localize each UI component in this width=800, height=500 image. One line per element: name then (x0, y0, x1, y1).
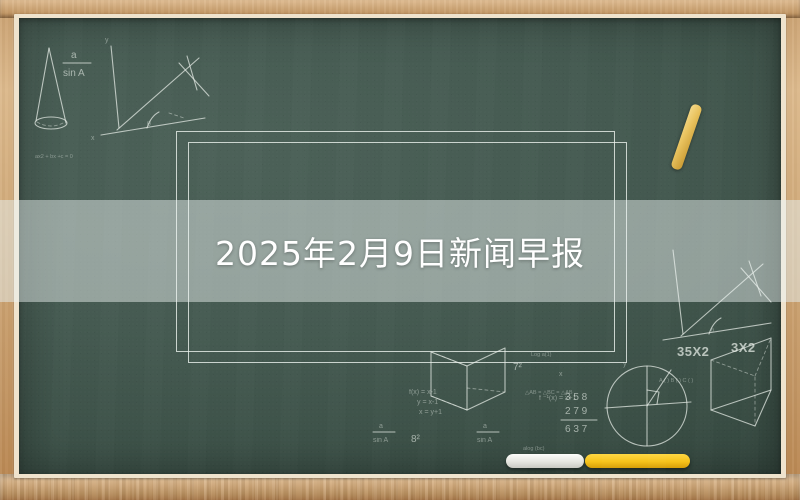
svg-text:f(x) = x-1: f(x) = x-1 (409, 389, 437, 396)
yellow-chalk-on-ledge (585, 454, 690, 468)
svg-text:3 5 8: 3 5 8 (565, 392, 588, 403)
title-banner: 2025年2月9日新闻早报 (0, 200, 800, 302)
white-chalk-on-ledge (506, 454, 584, 468)
vertical-addition: 3 5 8 2 7 9 6 3 7 x (559, 371, 597, 435)
svg-text:y = x-1: y = x-1 (417, 399, 438, 406)
alog-bc: alog (bc) (523, 446, 545, 452)
svg-text:y: y (623, 361, 627, 368)
label-35x2: 35X2 (677, 344, 709, 359)
svg-text:y: y (105, 37, 109, 44)
circle-angle-diagram: y (605, 361, 691, 446)
eight-squared: 8² (411, 434, 421, 445)
label-3x2: 3X2 (731, 340, 756, 355)
cube-wireframe-center (431, 348, 505, 410)
quadratic-equation: ax2 + bx +c = 0 (35, 154, 73, 160)
svg-text:2 7 9: 2 7 9 (565, 406, 588, 417)
svg-text:a: a (483, 423, 487, 430)
svg-text:sin A: sin A (477, 437, 493, 444)
svg-text:sin A: sin A (63, 68, 85, 79)
svg-text:x: x (91, 135, 95, 142)
svg-text:θ: θ (147, 121, 151, 128)
svg-text:a: a (379, 423, 383, 430)
function-system: f(x) = x-1 y = x-1 x = y+1 (409, 389, 442, 416)
angle-diagram-top-left: y x θ (91, 37, 209, 142)
log-a-one: Log a(1) (531, 352, 552, 358)
seven-squared: 7² (513, 362, 523, 373)
svg-text:x: x (559, 371, 563, 378)
yellow-chalk-stick (670, 103, 703, 171)
cube-wireframe-right (711, 338, 771, 426)
cone-drawing (35, 48, 67, 129)
page-title: 2025年2月9日新闻早报 (215, 227, 585, 275)
fraction-a-sin-a-bottom-right: a sin A (477, 423, 499, 444)
inverse-function: f ⁻¹(x) = x+1 (539, 395, 577, 402)
svg-text:θ: θ (711, 328, 714, 334)
fraction-a-sin-a-bottom-left: a sin A (373, 423, 395, 444)
svg-text:x = y+1: x = y+1 (419, 409, 442, 416)
svg-text:6 3 7: 6 3 7 (565, 424, 588, 435)
matrix-notation: A ( ) B ( ) C ( ) (659, 378, 693, 384)
triangle-note: △AB = △BC = △AB (525, 390, 573, 396)
svg-text:sin A: sin A (373, 437, 389, 444)
chalkboard-poster: a sin A y x θ ax2 (0, 0, 800, 500)
svg-text:a: a (71, 50, 77, 61)
fraction-a-sin-a-top: a sin A (63, 50, 91, 79)
